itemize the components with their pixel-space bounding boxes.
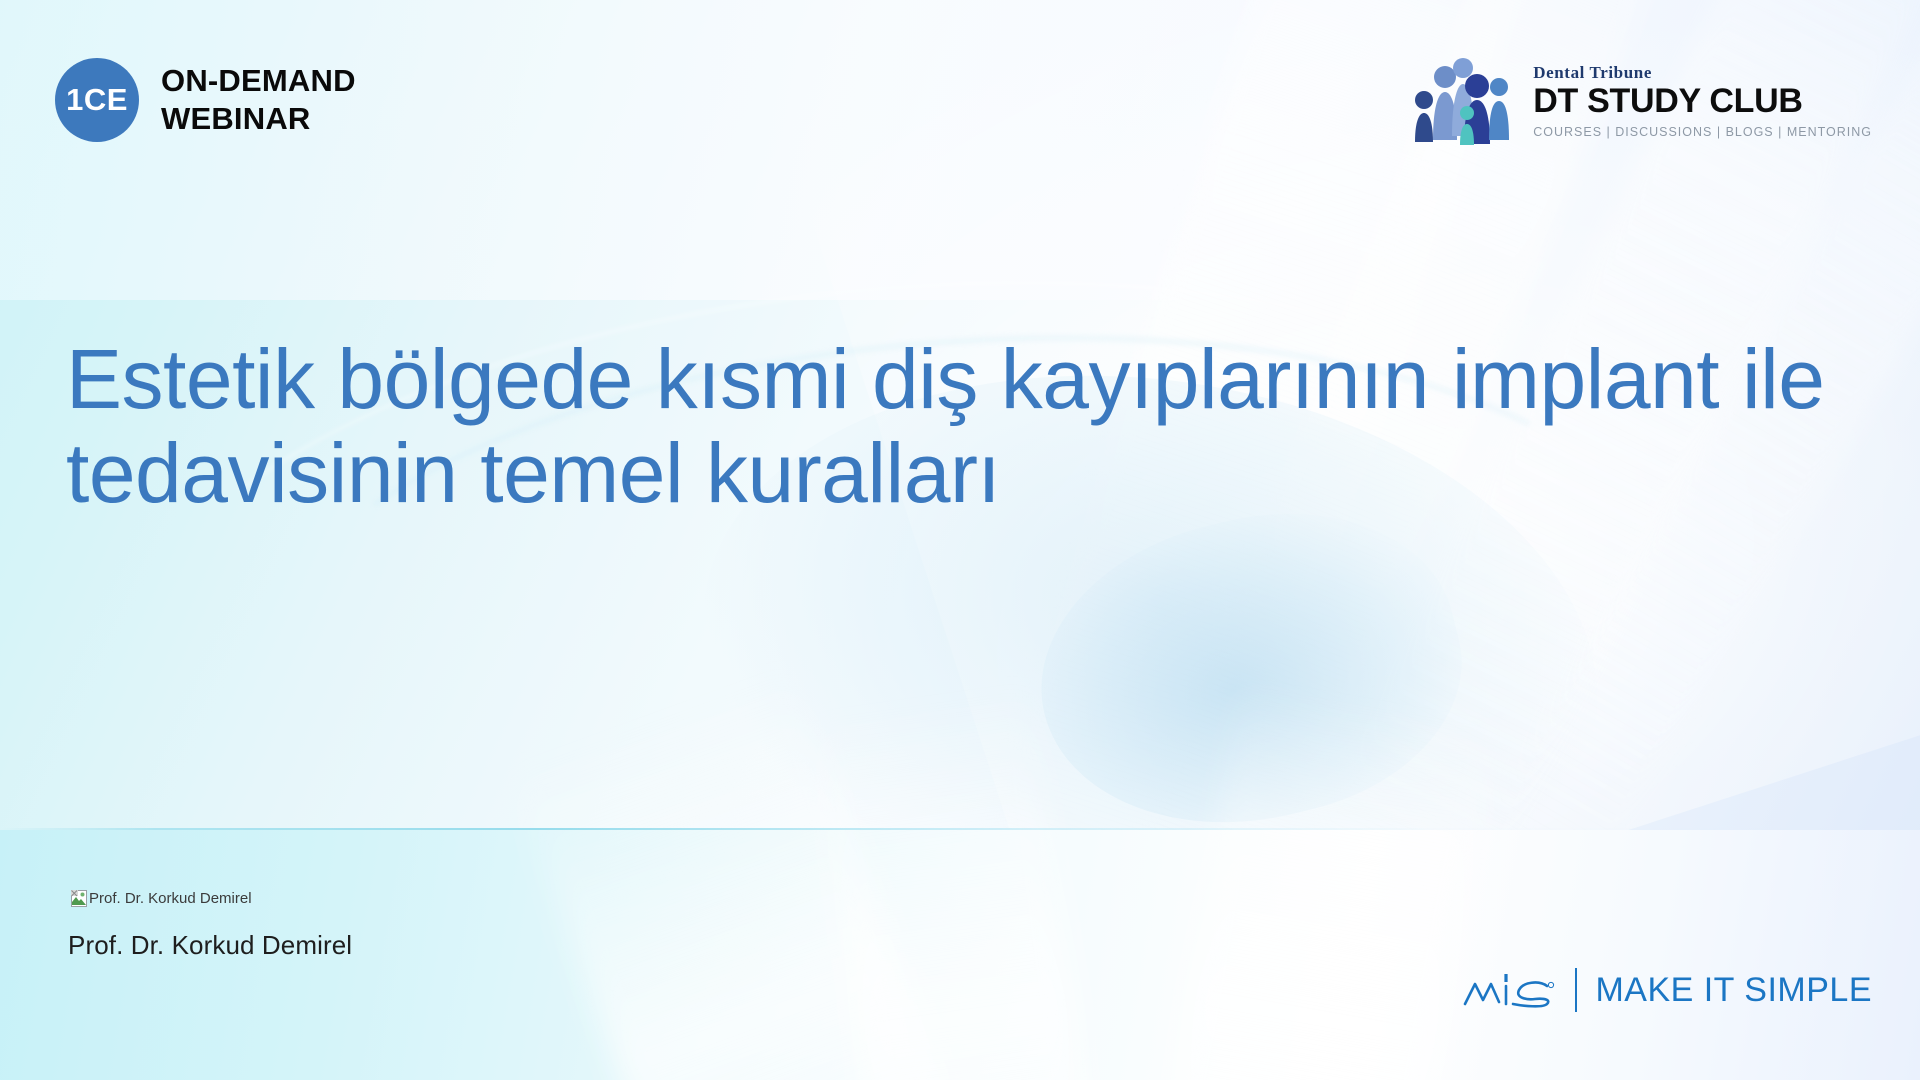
broken-image-icon	[71, 890, 87, 907]
mis-logo-icon	[1461, 968, 1557, 1012]
page-title: Estetik bölgede kısmi diş kayıplarının i…	[66, 332, 1826, 520]
speaker-photo-broken-image: Prof. Dr. Korkud Demirel	[71, 890, 252, 907]
webinar-title-slide: 1CE ON-DEMAND WEBINAR	[0, 0, 1920, 1080]
background-swoosh-c	[1010, 474, 1490, 867]
ce-credit-badge: 1CE	[55, 58, 139, 142]
webinar-type-line2: WEBINAR	[161, 100, 356, 138]
dental-tribune-label: Dental Tribune	[1533, 64, 1872, 81]
ce-webinar-header: 1CE ON-DEMAND WEBINAR	[55, 58, 356, 142]
dt-study-club-logo: Dental Tribune DT STUDY CLUB COURSES | D…	[1411, 56, 1872, 148]
background-horizon-line	[0, 828, 1920, 830]
mis-tagline: MAKE IT SIMPLE	[1595, 971, 1872, 1010]
background-light-ray	[812, 688, 1127, 1080]
background-light-ray	[509, 670, 1030, 1080]
background-light-ray	[1121, 683, 1499, 1080]
background-top-wash	[0, 0, 1920, 300]
people-group-icon	[1411, 56, 1519, 148]
mis-logo-divider	[1575, 968, 1577, 1012]
mis-sponsor-logo: MAKE IT SIMPLE	[1461, 968, 1872, 1012]
dt-study-club-name: DT STUDY CLUB	[1533, 84, 1872, 120]
webinar-type-line1: ON-DEMAND	[161, 62, 356, 100]
background-arc	[92, 213, 1653, 991]
speaker-name: Prof. Dr. Korkud Demirel	[68, 930, 352, 961]
webinar-type-label: ON-DEMAND WEBINAR	[161, 62, 356, 138]
dt-study-club-wordmark: Dental Tribune DT STUDY CLUB COURSES | D…	[1533, 56, 1872, 139]
speaker-photo-alt-text: Prof. Dr. Korkud Demirel	[89, 890, 252, 907]
dt-study-club-nav: COURSES | DISCUSSIONS | BLOGS | MENTORIN…	[1533, 125, 1872, 139]
